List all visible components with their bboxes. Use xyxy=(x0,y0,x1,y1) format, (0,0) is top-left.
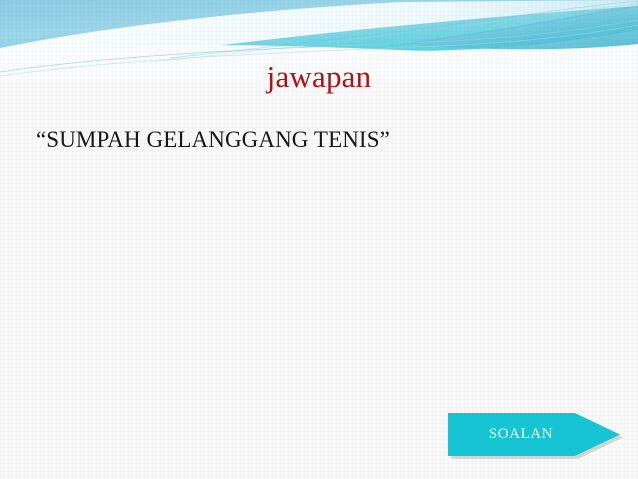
body-text-line: “SUMPAH GELANGGANG TENIS” xyxy=(36,125,596,155)
soalan-button[interactable]: SOALAN xyxy=(448,413,620,456)
presentation-slide: jawapan “SUMPAH GELANGGANG TENIS” SOALAN xyxy=(0,0,638,479)
slide-body: “SUMPAH GELANGGANG TENIS” xyxy=(36,125,596,155)
page-title: jawapan xyxy=(0,57,638,97)
